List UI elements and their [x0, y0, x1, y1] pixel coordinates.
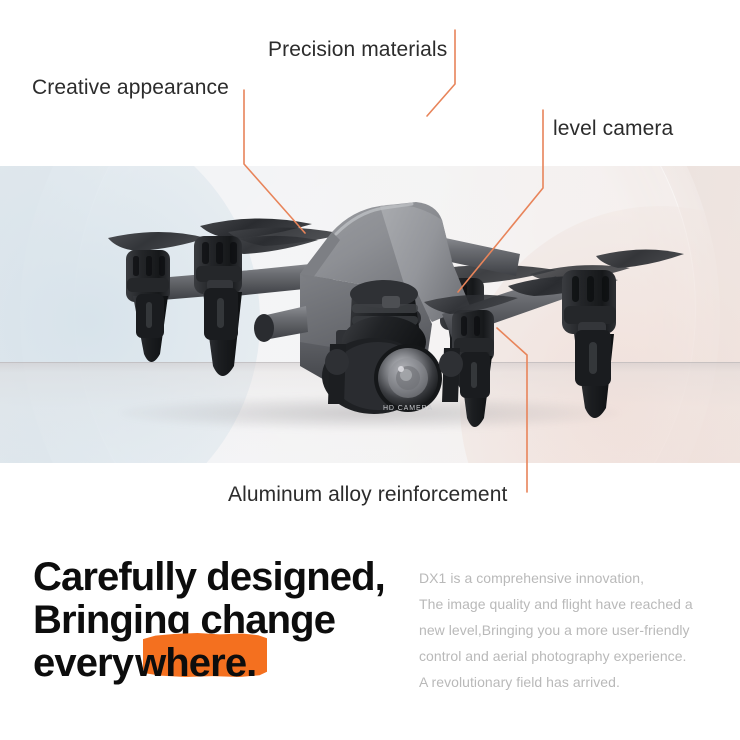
body-copy-line-1: DX1 is a comprehensive innovation, — [419, 565, 719, 591]
lens-hd-camera-text: HD CAMERA — [383, 405, 433, 412]
callout-label-level-camera: level camera — [553, 117, 673, 141]
body-copy-line-5: A revolutionary field has arrived. — [419, 669, 719, 695]
product-feature-page: Creative appearance Precision materials … — [0, 0, 740, 740]
body-copy-line-4: control and aerial photography experienc… — [419, 643, 719, 669]
callout-label-aluminum-alloy-reinforcement: Aluminum alloy reinforcement — [228, 483, 507, 507]
headline-line-3: everywhere. — [33, 642, 403, 685]
drone-illustration: HD CAMERA — [0, 166, 740, 463]
headline-line-1: Carefully designed, — [33, 556, 403, 599]
callout-label-precision-materials: Precision materials — [268, 38, 447, 62]
body-copy-line-2: The image quality and flight have reache… — [419, 591, 719, 617]
body-copy-block: DX1 is a comprehensive innovation, The i… — [419, 565, 719, 695]
callout-label-creative-appearance: Creative appearance — [32, 76, 229, 100]
headline-line-3-highlight: where. — [133, 641, 258, 685]
headline-block: Carefully designed, Bringing change ever… — [33, 556, 403, 685]
headline-line-3-plain: every — [33, 641, 133, 685]
body-copy-line-3: new level,Bringing you a more user-frien… — [419, 617, 719, 643]
product-photo-band: HD CAMERA — [0, 166, 740, 463]
